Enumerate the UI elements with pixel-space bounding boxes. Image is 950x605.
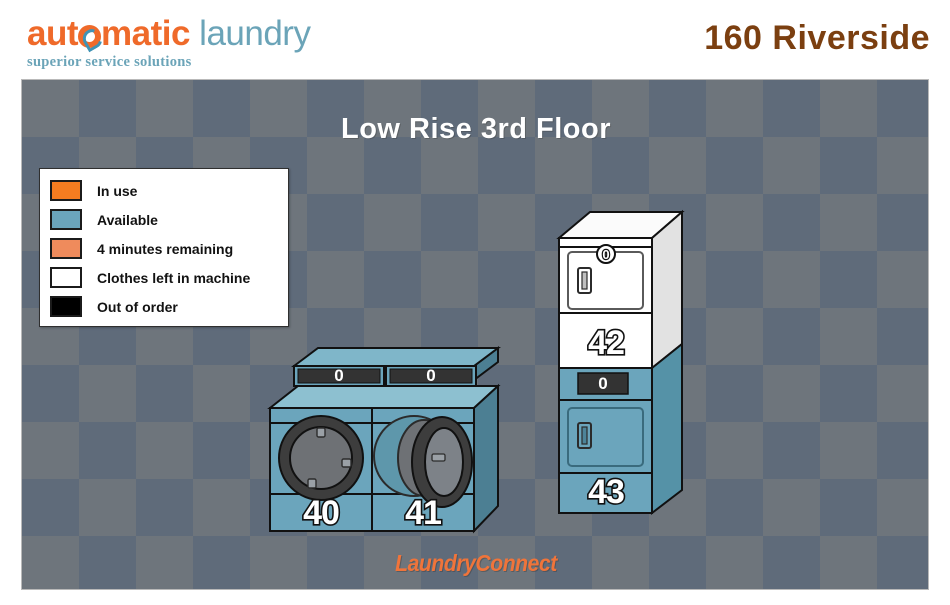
dryer-42-number-label: 42 — [588, 324, 624, 362]
washer-cabinet-top-face — [270, 386, 498, 408]
washer-40-door-tab-bottom — [308, 479, 316, 488]
legend-label-in-use: In use — [97, 183, 137, 199]
legend-swatch-out-of-order — [50, 296, 82, 317]
automatic-laundry-logo[interactable]: autmatic laundry superior service soluti… — [27, 16, 310, 70]
dryer-stack-42-43: 0 42 0 43 — [534, 208, 704, 533]
logo-swirl-o-icon — [78, 25, 101, 48]
logo-text-matic: matic — [101, 14, 190, 53]
logo-text-laundry: laundry — [199, 14, 310, 53]
dryer-42-handle-inset — [582, 272, 587, 289]
floor-title: Low Rise 3rd Floor — [22, 113, 929, 146]
legend-item-available: Available — [40, 205, 288, 234]
legend-item-out-of-order: Out of order — [40, 292, 288, 321]
legend-item-clothes-left: Clothes left in machine — [40, 263, 288, 292]
dryer-42-display-value: 0 — [602, 247, 609, 262]
dryer-43-number-label: 43 — [588, 473, 624, 511]
dryer-stack-svg: 0 42 0 43 — [534, 208, 704, 533]
site-title: 160 Riverside — [704, 19, 930, 58]
legend-label-clothes-left: Clothes left in machine — [97, 270, 250, 286]
washer-41-door-glass-open — [425, 428, 463, 496]
laundry-room-status-page: autmatic laundry superior service soluti… — [0, 0, 950, 605]
status-legend: In use Available 4 minutes remaining Clo… — [39, 168, 289, 327]
legend-item-in-use: In use — [40, 176, 288, 205]
washer-40-door-tab-top — [317, 428, 325, 437]
washer-bank-svg: 0 0 40 — [246, 336, 506, 536]
washer-cabinet-right-face — [474, 386, 498, 531]
dryer-43-handle-inset — [582, 427, 587, 444]
legend-swatch-in-use — [50, 180, 82, 201]
washer-panel-top-face — [294, 348, 498, 366]
legend-swatch-clothes-left — [50, 267, 82, 288]
washer-40-door-tab-right — [342, 459, 351, 467]
laundry-room-map: Low Rise 3rd Floor In use Available 4 mi… — [21, 79, 929, 590]
washer-41-display-value: 0 — [426, 366, 435, 385]
legend-label-available: Available — [97, 212, 158, 228]
legend-swatch-available — [50, 209, 82, 230]
washer-41-number-label: 41 — [405, 494, 441, 532]
washer-40-display-value: 0 — [334, 366, 343, 385]
dryer-stack-display-value: 0 — [598, 374, 607, 393]
legend-label-finishing: 4 minutes remaining — [97, 241, 233, 257]
legend-label-out-of-order: Out of order — [97, 299, 178, 315]
legend-item-finishing: 4 minutes remaining — [40, 234, 288, 263]
logo-wordmark: autmatic laundry — [27, 16, 310, 51]
washer-40-number-label: 40 — [303, 494, 339, 532]
washer-41-door-tab — [432, 454, 445, 461]
laundryconnect-brand: LaundryConnect — [58, 550, 893, 577]
page-header: autmatic laundry superior service soluti… — [0, 0, 950, 80]
logo-text-aut: aut — [27, 14, 78, 53]
washer-bank-40-41: 0 0 40 — [246, 336, 506, 536]
dryer-43-right-face — [652, 344, 682, 513]
logo-tagline: superior service solutions — [27, 55, 310, 70]
legend-swatch-finishing — [50, 238, 82, 259]
dryer-42-right-face — [652, 212, 682, 368]
